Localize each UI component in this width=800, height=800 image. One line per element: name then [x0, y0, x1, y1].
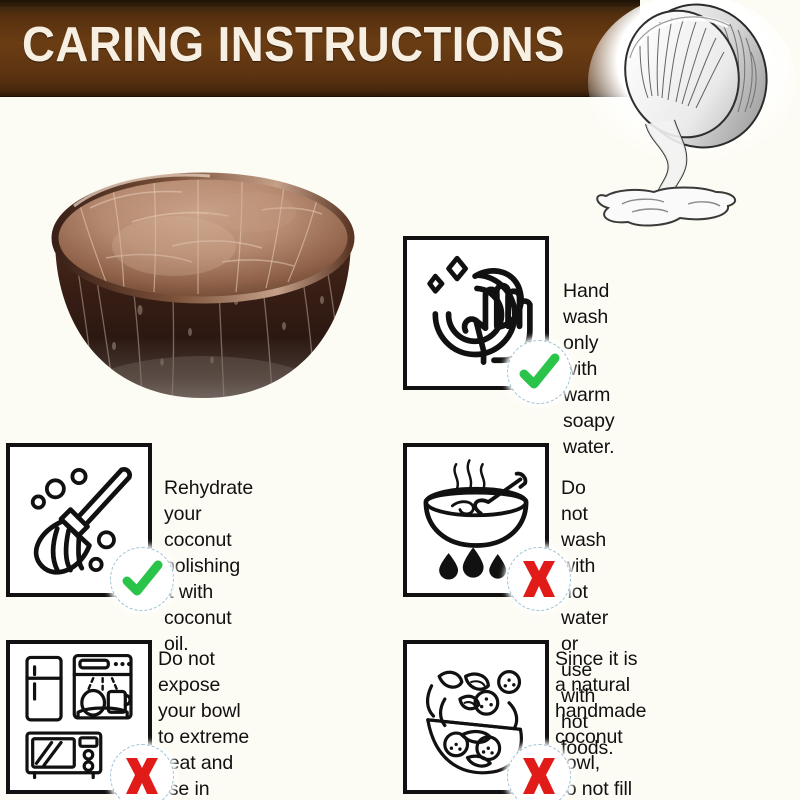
coconut-bowl-photo: [22, 150, 384, 408]
status-badge-cross: [110, 744, 174, 800]
status-badge-check: [110, 547, 174, 611]
status-badge-cross: [507, 744, 571, 800]
status-badge-cross: [507, 547, 571, 611]
caring-instructions-page: CARING INSTRUCTIONS: [0, 0, 800, 800]
card-text-rehydrate: Rehydrate your coconut polishing it with…: [164, 475, 253, 657]
coconut-half-pouring-sketch: [588, 0, 800, 228]
status-badge-check: [507, 340, 571, 404]
page-title: CARING INSTRUCTIONS: [22, 17, 565, 73]
header-banner: CARING INSTRUCTIONS: [0, 0, 640, 96]
